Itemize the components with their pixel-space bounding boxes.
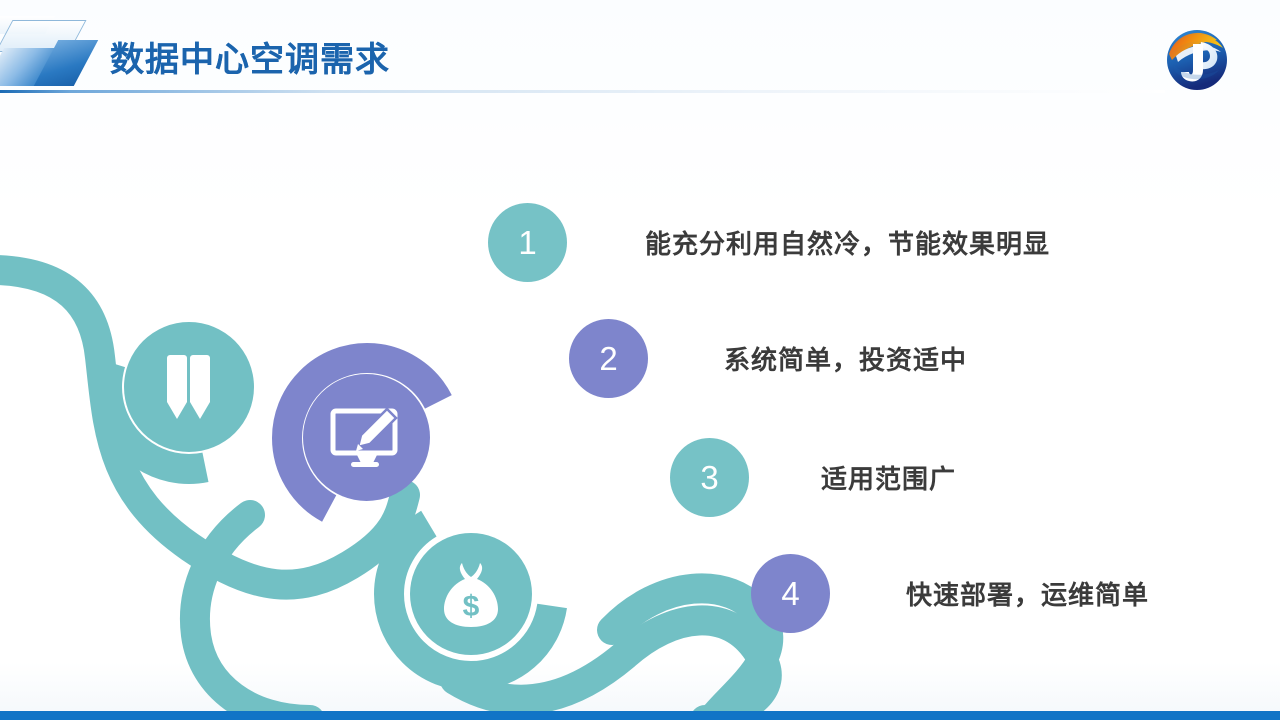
item-number-badge-1: 1: [488, 203, 567, 282]
ribbon-teal-loop: [195, 515, 310, 720]
item-number-badge-3: 3: [670, 438, 749, 517]
page-title: 数据中心空调需求: [110, 32, 390, 81]
footer-bar: [0, 711, 1280, 720]
item-text-1: 能充分利用自然冷，节能效果明显: [645, 224, 1050, 261]
header-divider: [0, 90, 1165, 93]
company-logo-icon: [1163, 26, 1231, 94]
slide-canvas: 数据中心空调需求: [0, 0, 1280, 720]
monitor-pen-icon: [329, 405, 405, 471]
money-bag-icon: $: [440, 559, 502, 629]
item-text-2: 系统简单，投资适中: [724, 340, 967, 377]
list-item-3[interactable]: 3 适用范围广: [670, 438, 956, 517]
list-item-2[interactable]: 2 系统简单，投资适中: [569, 319, 967, 398]
item-text-4: 快速部署，运维简单: [906, 575, 1149, 612]
item-number-badge-4: 4: [751, 554, 830, 633]
slide-header: 数据中心空调需求: [0, 0, 1280, 95]
decor-circle-design: [303, 374, 430, 501]
svg-text:$: $: [463, 590, 480, 623]
decor-circle-pens: [124, 322, 254, 452]
decor-circle-money: $: [410, 533, 532, 655]
pens-icon: [158, 351, 220, 423]
company-logo: [1163, 26, 1231, 94]
list-item-1[interactable]: 1 能充分利用自然冷，节能效果明显: [488, 203, 1050, 282]
item-text-3: 适用范围广: [821, 459, 956, 496]
item-number-badge-2: 2: [569, 319, 648, 398]
list-item-4[interactable]: 4 快速部署，运维简单: [751, 554, 1149, 633]
